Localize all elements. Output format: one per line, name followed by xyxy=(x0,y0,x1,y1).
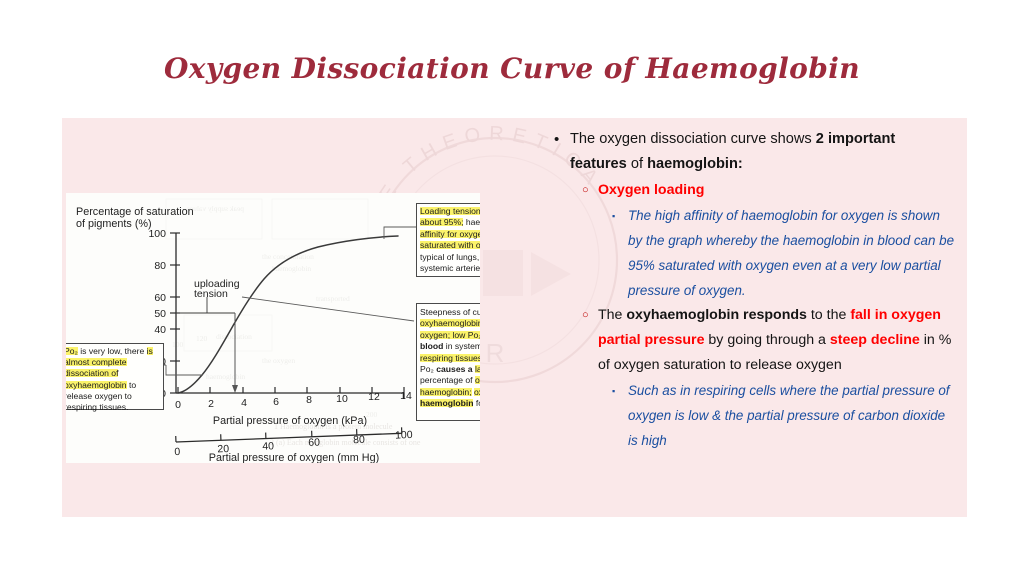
bullet-marker-icon: • xyxy=(554,127,559,152)
page-title: Oxygen Dissociation Curve of Haemoglobin xyxy=(0,52,1024,85)
bullet-level-1: •The oxygen dissociation curve shows 2 i… xyxy=(552,127,956,177)
x-tick-mmhg-40: 40 xyxy=(262,440,274,452)
x-tick-mmhg-100: 100 xyxy=(395,429,413,442)
bullet-level-3: ▪The high affinity of haemoglobin for ox… xyxy=(552,203,956,303)
svg-text:haemoglobin: haemoglobin xyxy=(206,372,245,381)
bullet-text: Such as in respiring cells where the par… xyxy=(628,383,950,448)
annotation-uploading-tension-line2: tension xyxy=(194,288,228,300)
y-tick-40: 40 xyxy=(154,324,166,336)
callout-steepness-text: Steepness of curve shows oxyhaemoglobin … xyxy=(420,307,480,410)
x-tick-kpa-6: 6 xyxy=(273,396,279,408)
y-tick-50: 50 xyxy=(154,308,166,320)
bullet-level-3: ▪Such as in respiring cells where the pa… xyxy=(552,378,956,453)
x-tick-mmhg-0: 0 xyxy=(174,446,180,458)
y-axis-label-line2: of pigments (%) xyxy=(76,218,152,230)
bullet-marker-icon: ▪ xyxy=(612,203,615,229)
x-axis-label-mmhg: Partial pressure of oxygen (mm Hg) xyxy=(209,452,379,463)
oxygen-dissociation-figure: peak supply values the concentration hae… xyxy=(66,193,480,463)
x-tick-kpa-12: 12 xyxy=(368,391,380,403)
x-tick-kpa-10: 10 xyxy=(336,393,348,405)
bullet-text: Oxygen loading xyxy=(598,182,704,198)
callout-very-low-po2-text: Po₂ is very low, there is almost complet… xyxy=(66,346,164,413)
bullet-marker-icon: ▪ xyxy=(612,378,615,404)
x-tick-mmhg-60: 60 xyxy=(308,436,320,448)
y-tick-60: 60 xyxy=(154,292,166,304)
svg-text:peak supply values: peak supply values xyxy=(187,204,244,213)
bullet-list: •The oxygen dissociation curve shows 2 i… xyxy=(552,127,956,453)
y-axis-label-line1: Percentage of saturation xyxy=(76,206,194,218)
x-tick-kpa-0: 0 xyxy=(175,399,181,411)
bullet-text: The high affinity of haemoglobin for oxy… xyxy=(628,208,954,298)
x-tick-kpa-2: 2 xyxy=(208,398,214,410)
bullet-marker-icon: ○ xyxy=(582,178,589,203)
bullet-text: The oxyhaemoglobin responds to the fall … xyxy=(598,307,951,373)
y-tick-80: 80 xyxy=(154,260,166,272)
x-tick-kpa-14: 14 xyxy=(400,390,412,402)
x-tick-kpa-8: 8 xyxy=(306,394,312,406)
bullet-text: The oxygen dissociation curve shows 2 im… xyxy=(570,131,895,172)
bullet-level-2: ○Oxygen loading xyxy=(552,178,956,203)
svg-text:120: 120 xyxy=(196,334,208,343)
x-axis-label-kpa: Partial pressure of oxygen (kPa) xyxy=(213,415,367,427)
callout-loading-tension-text: Loading tension of haemoglobin is about … xyxy=(420,206,480,274)
bullet-marker-icon: ○ xyxy=(582,303,589,328)
x-tick-kpa-4: 4 xyxy=(241,397,247,409)
bullet-level-2: ○The oxyhaemoglobin responds to the fall… xyxy=(552,303,956,378)
svg-text:transported: transported xyxy=(316,294,350,303)
slide-canvas: Oxygen Dissociation Curve of Haemoglobin… xyxy=(0,0,1024,576)
svg-text:100: 100 xyxy=(172,340,184,349)
svg-text:dissociation: dissociation xyxy=(216,332,252,341)
svg-text:the oxygen: the oxygen xyxy=(262,356,295,365)
x-tick-mmhg-80: 80 xyxy=(353,434,365,446)
svg-text:200: 200 xyxy=(366,410,378,419)
